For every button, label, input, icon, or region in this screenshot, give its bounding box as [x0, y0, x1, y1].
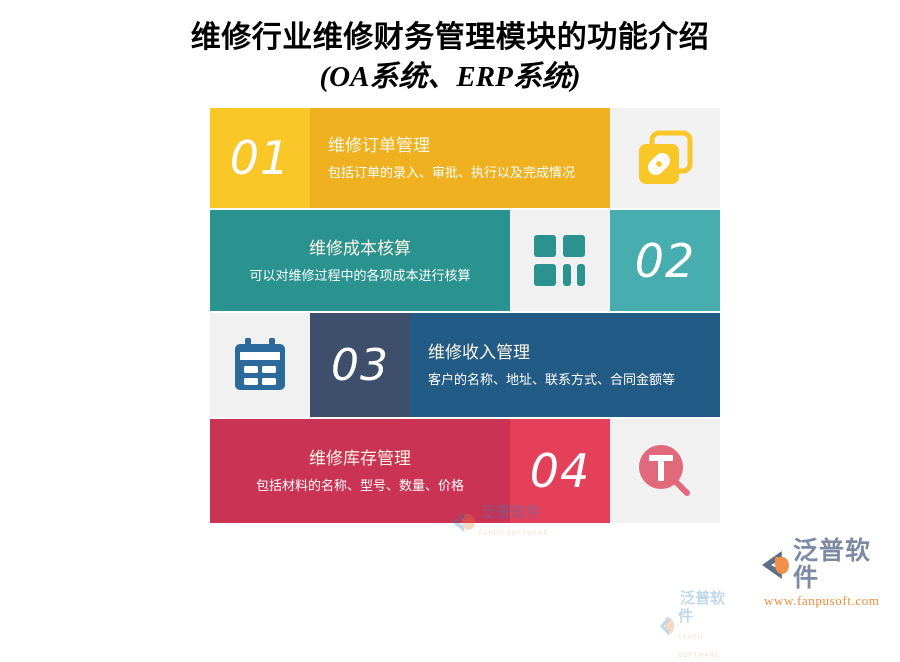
watermark-leaf-icon [665, 618, 674, 634]
row-01-title: 维修订单管理 [328, 134, 430, 158]
brand-logo: 泛普软件 www.fanpusoft.com [762, 538, 890, 588]
page-title-line-2: (OA系统、ERP系统) [0, 58, 900, 96]
row-04-title: 维修库存管理 [309, 447, 411, 471]
row-04-number: 04 [510, 419, 610, 523]
row-03-desc: 客户的名称、地址、联系方式、合同金额等 [428, 370, 675, 389]
calendar-icon [231, 336, 289, 394]
grid-dashboard-icon [532, 233, 588, 289]
info-row-04: 维修库存管理 包括材料的名称、型号、数量、价格 04 [210, 419, 720, 523]
row-01-desc: 包括订单的录入、审批、执行以及完成情况 [328, 163, 575, 182]
brand-url: www.fanpusoft.com [762, 593, 890, 609]
watermark-chevron-icon [660, 616, 675, 636]
row-02-title: 维修成本核算 [309, 237, 411, 261]
row-03-icon-panel [210, 313, 310, 417]
watermark-2-text: 泛普软件 [678, 591, 725, 625]
row-01-content: 维修订单管理 包括订单的录入、审批、执行以及完成情况 [310, 108, 610, 208]
row-04-content: 维修库存管理 包括材料的名称、型号、数量、价格 [210, 419, 510, 523]
fanpu-logo-mark-icon [762, 551, 790, 579]
row-04-icon-panel [610, 419, 720, 523]
info-row-02: 维修成本核算 可以对维修过程中的各项成本进行核算 02 [210, 210, 720, 311]
row-01-number: 01 [210, 108, 310, 208]
row-02-icon-panel [510, 210, 610, 311]
brand-name: 泛普软件 [793, 538, 890, 592]
row-02-desc: 可以对维修过程中的各项成本进行核算 [249, 266, 470, 285]
page-title: 维修行业维修财务管理模块的功能介绍 (OA系统、ERP系统) [0, 0, 900, 96]
info-row-03: 03 维修收入管理 客户的名称、地址、联系方式、合同金额等 [210, 313, 720, 417]
row-04-desc: 包括材料的名称、型号、数量、价格 [256, 476, 464, 495]
watermark-1-sub: FANPU SOFTWARE [479, 531, 548, 537]
row-01-icon-panel [610, 108, 720, 208]
page-title-line-1: 维修行业维修财务管理模块的功能介绍 [0, 18, 900, 58]
row-03-title: 维修收入管理 [428, 341, 530, 365]
magnifier-t-icon [635, 441, 695, 501]
info-row-01: 01 维修订单管理 包括订单的录入、审批、执行以及完成情况 [210, 108, 720, 208]
brand-logo-row: 泛普软件 [762, 538, 890, 592]
watermark-2: 泛普软件 FANPU SOFTWARE [660, 590, 729, 662]
row-03-number: 03 [310, 313, 410, 417]
infographic-grid: 01 维修订单管理 包括订单的录入、审批、执行以及完成情况 维修成本核算 [210, 108, 720, 523]
row-02-content: 维修成本核算 可以对维修过程中的各项成本进行核算 [210, 210, 510, 311]
link-copy-icon [636, 130, 694, 186]
watermark-2-sub: FANPU SOFTWARE [678, 635, 720, 659]
row-03-content: 维修收入管理 客户的名称、地址、联系方式、合同金额等 [410, 313, 720, 417]
row-02-number: 02 [610, 210, 720, 311]
